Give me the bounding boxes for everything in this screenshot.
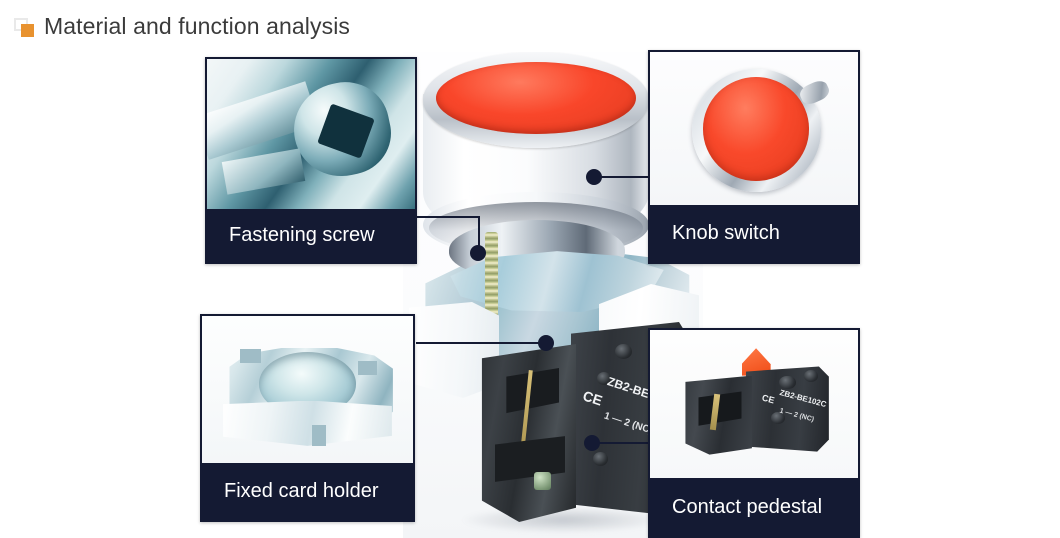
callout-photo-fastening-screw [207, 59, 415, 209]
connector-line-fixed-card-holder [416, 342, 546, 344]
contact-pedestal-image: CE ZB2-BE102C 1 — 2 (NC) [650, 330, 858, 482]
two-squares-icon-front [21, 24, 34, 37]
callout-card-fastening-screw[interactable]: Fastening screw [205, 57, 417, 264]
callout-caption-contact-pedestal: Contact pedestal [650, 478, 858, 536]
callout-caption-fastening-screw: Fastening screw [207, 209, 415, 262]
callout-card-contact-pedestal[interactable]: CE ZB2-BE102C 1 — 2 (NC) Contact pedesta… [648, 328, 860, 538]
pedestal-hole-2 [804, 370, 819, 382]
contact-block-left-face [478, 344, 576, 522]
knob-red-face [703, 77, 809, 181]
screw-edge-highlight [221, 148, 305, 194]
holder-notch-1 [240, 349, 261, 363]
connector-dot-knob-switch [586, 169, 602, 185]
fixed-card-holder-image [202, 316, 413, 467]
callout-photo-contact-pedestal: CE ZB2-BE102C 1 — 2 (NC) [650, 330, 858, 482]
button-red-cap [436, 62, 636, 134]
callout-caption-fixed-card-holder: Fixed card holder [202, 463, 413, 520]
page-title: Material and function analysis [44, 13, 350, 40]
callout-photo-knob-switch [650, 52, 858, 209]
connector-dot-contact-pedestal [584, 435, 600, 451]
callout-caption-knob-switch: Knob switch [650, 205, 858, 262]
fastening-screw-image [207, 59, 415, 209]
connector-dot-fixed-card-holder [538, 335, 554, 351]
connector-line-fastening-screw-h [416, 216, 480, 218]
page-header: Material and function analysis [0, 0, 1060, 50]
callout-label-fastening-screw: Fastening screw [207, 224, 375, 247]
callout-photo-fixed-card-holder [202, 316, 413, 467]
connector-line-contact-pedestal [596, 442, 650, 444]
analysis-infographic: Material and function analysis CE ZB2-BE… [0, 0, 1060, 538]
knob-switch-image [650, 52, 858, 209]
holder-front-face [223, 401, 392, 446]
contact-block-hole-1 [615, 344, 632, 359]
holder-notch-3 [312, 425, 327, 446]
callout-label-knob-switch: Knob switch [650, 222, 780, 245]
connector-line-knob-switch [598, 176, 650, 178]
callout-card-knob-switch[interactable]: Knob switch [648, 50, 860, 264]
callout-card-fixed-card-holder[interactable]: Fixed card holder [200, 314, 415, 522]
callout-label-contact-pedestal: Contact pedestal [650, 496, 822, 519]
connector-dot-fastening-screw [470, 245, 486, 261]
contact-block-hole-4 [593, 452, 608, 466]
two-squares-icon [14, 18, 36, 38]
terminal-screw [534, 472, 551, 490]
callout-label-fixed-card-holder: Fixed card holder [202, 480, 379, 503]
holder-notch-2 [358, 361, 377, 375]
